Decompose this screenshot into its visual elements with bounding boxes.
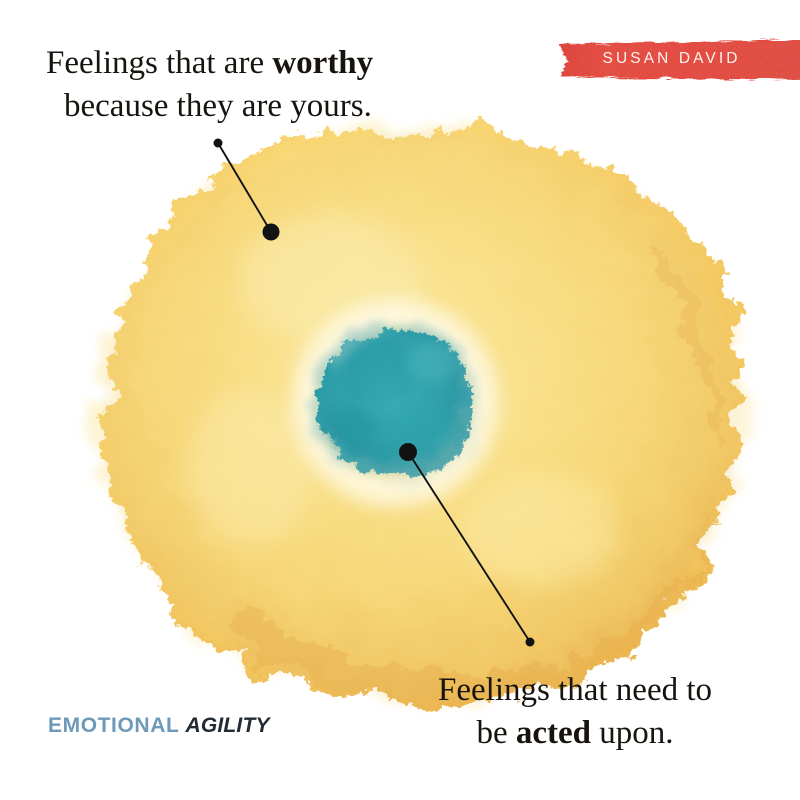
callout-worthy-line1: Feelings that are worthy (46, 42, 373, 85)
callout-acted: Feelings that need to be acted upon. (438, 669, 712, 755)
logo-word-agility: AGILITY (185, 714, 269, 737)
brand-banner-label: SUSAN DAVID (556, 36, 784, 82)
logo-word-emotional: EMOTIONAL (48, 714, 179, 737)
callout-worthy-line1-prefix: Feelings that are (46, 45, 272, 81)
emotional-agility-logo: EMOTIONAL AGILITY (48, 714, 270, 738)
callout-worthy-line1-bold: worthy (272, 45, 373, 81)
callout-acted-line1: Feelings that need to (438, 669, 712, 712)
callout-acted-line2-bold: acted (516, 715, 591, 751)
brand-banner: SUSAN DAVID (556, 36, 800, 82)
callout-worthy: Feelings that are worthy because they ar… (46, 42, 373, 128)
quote-card: SUSAN DAVID Feelings that are worthy bec… (0, 0, 800, 800)
callout-worthy-line2: because they are yours. (46, 85, 373, 128)
callout-acted-line2: be acted upon. (438, 712, 712, 755)
callout-acted-line2-prefix: be (476, 715, 515, 751)
callout-acted-line2-suffix: upon. (591, 715, 674, 751)
